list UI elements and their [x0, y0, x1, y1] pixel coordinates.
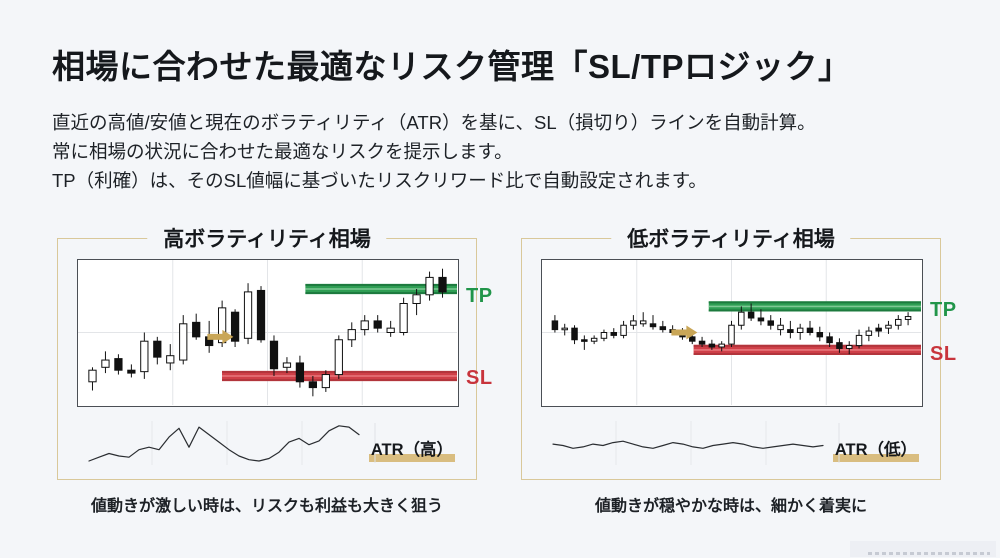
atr-line-svg-low	[541, 421, 841, 465]
atr-strip-low-volatility: ATR（低）	[541, 421, 923, 465]
slide-root: 相場に合わせた最適なリスク管理「SL/TPロジック」 直近の高値/安値と現在のボ…	[0, 0, 1000, 558]
caption-high-volatility: 値動きが激しい時は、リスクも利益も大きく狙う	[57, 492, 477, 516]
tp-label-high: TP	[466, 285, 493, 308]
candlestick-svg-high	[78, 260, 457, 405]
caption-low-volatility: 値動きが穏やかな時は、細かく着実に	[521, 492, 941, 516]
candlestick-svg-low	[542, 260, 921, 405]
panel-title-high-volatility: 高ボラティリティ相場	[147, 223, 386, 253]
atr-label-low: ATR（低）	[833, 436, 919, 461]
panel-title-low-volatility: 低ボラティリティ相場	[611, 223, 850, 253]
lede-line-1: 直近の高値/安値と現在のボラティリティ（ATR）を基に、SL（損切り）ラインを自…	[52, 108, 816, 137]
panel-low-volatility: 低ボラティリティ相場 TP SL ATR（低）	[521, 238, 941, 480]
lede-paragraph: 直近の高値/安値と現在のボラティリティ（ATR）を基に、SL（損切り）ラインを自…	[52, 108, 816, 195]
atr-strip-high-volatility: ATR（高）	[77, 421, 459, 465]
sl-label-high: SL	[466, 367, 493, 390]
atr-label-high: ATR（高）	[369, 436, 455, 461]
panel-high-volatility: 高ボラティリティ相場 TP SL ATR（高）	[57, 238, 477, 480]
candlestick-chart-high-volatility: TP SL	[77, 259, 459, 407]
tp-label-low: TP	[930, 299, 957, 322]
lede-line-3: TP（利確）は、そのSL値幅に基づいたリスクリワード比で自動設定されます。	[52, 166, 816, 195]
watermark-bar	[868, 552, 990, 555]
atr-label-text-high: ATR（高）	[371, 441, 453, 459]
candlestick-chart-low-volatility: TP SL	[541, 259, 923, 407]
atr-label-text-low: ATR（低）	[835, 441, 917, 459]
atr-line-svg-high	[77, 421, 377, 465]
page-title: 相場に合わせた最適なリスク管理「SL/TPロジック」	[52, 40, 852, 88]
watermark	[850, 541, 996, 557]
sl-label-low: SL	[930, 343, 957, 366]
lede-line-2: 常に相場の状況に合わせた最適なリスクを提示します。	[52, 137, 816, 166]
